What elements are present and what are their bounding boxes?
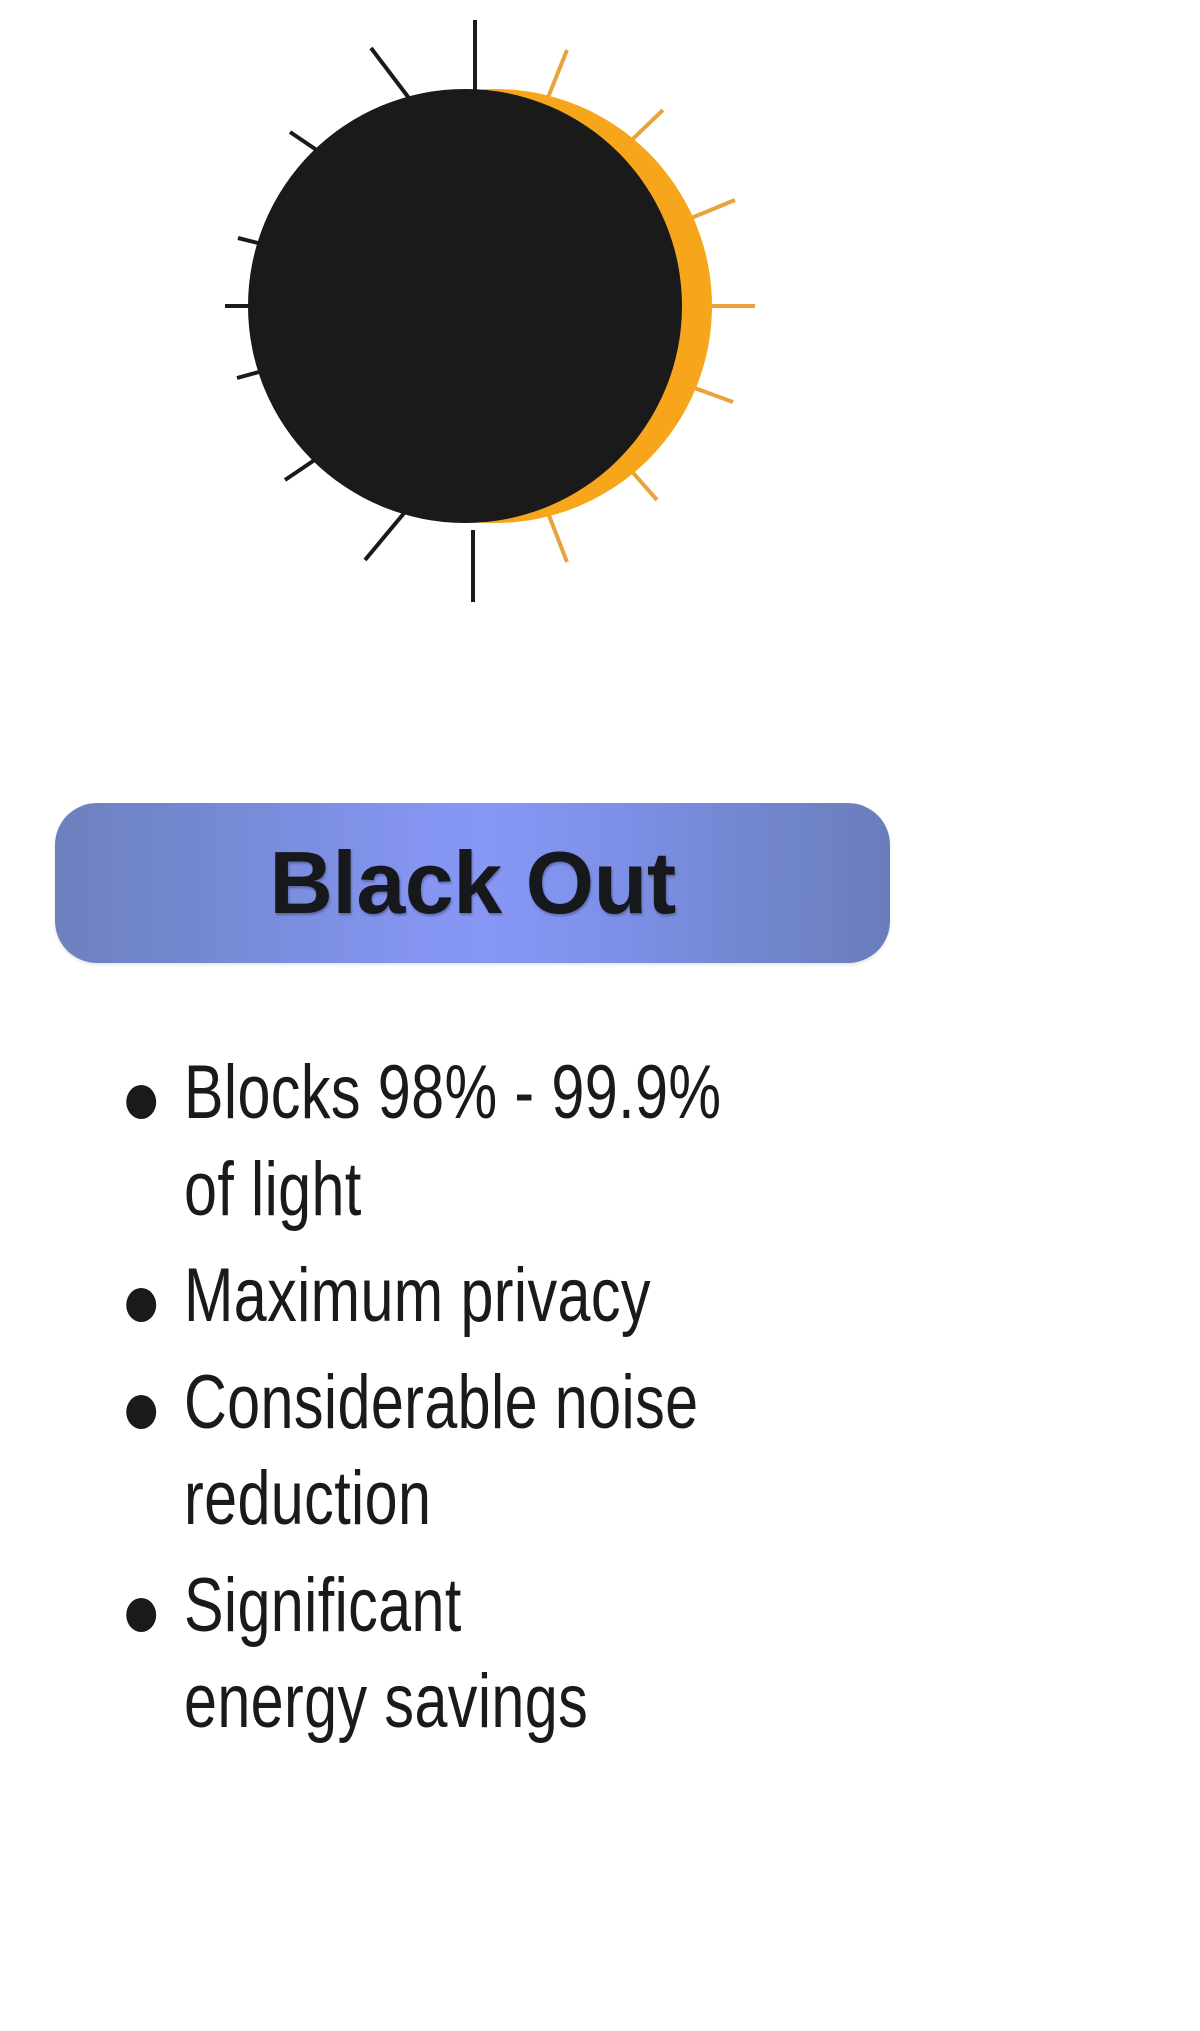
list-item: Maximum privacy [120,1248,1143,1345]
bullet-dot-icon [126,1085,156,1119]
page-title: Black Out [269,839,675,927]
feature-text: Blocks 98% - 99.9% of light [184,1045,1143,1238]
bullet-dot-icon [126,1288,156,1322]
bullet-dot-icon [126,1395,156,1429]
feature-text: Considerable noise reduction [184,1355,1143,1548]
list-item: Blocks 98% - 99.9% of light [120,1045,1143,1238]
list-item: Considerable noise reduction [120,1355,1143,1548]
feature-text: Maximum privacy [184,1248,1143,1345]
feature-list: Blocks 98% - 99.9% of light Maximum priv… [120,1045,1080,1761]
list-item: Significant energy savings [120,1558,1143,1751]
eclipsed-sun-icon [175,0,975,620]
feature-text: Significant energy savings [184,1558,1143,1751]
product-feature-card: Black Out Blocks 98% - 99.9% of light Ma… [0,0,1200,2031]
bullet-dot-icon [126,1598,156,1632]
title-banner: Black Out [55,803,890,963]
